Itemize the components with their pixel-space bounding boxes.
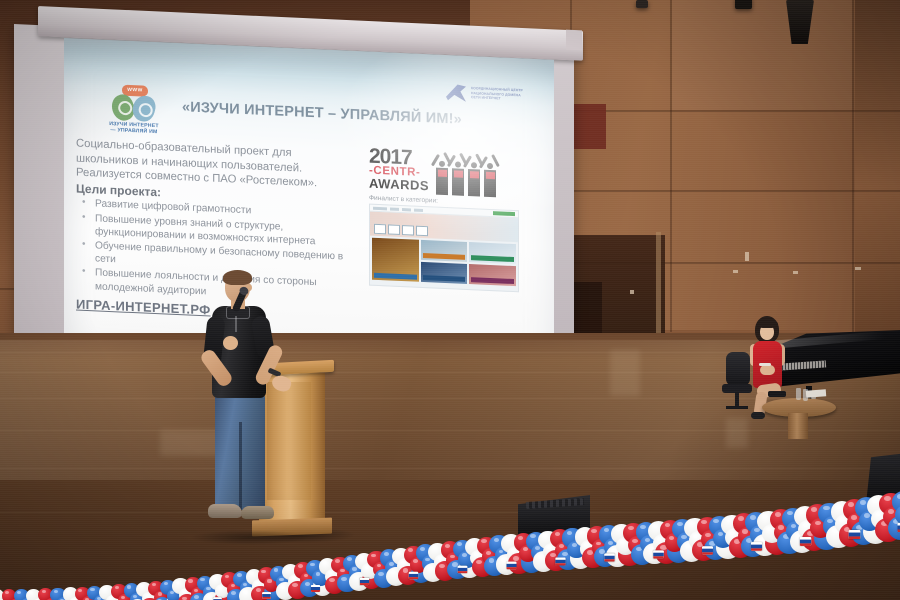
russian-flag-tag [605,554,615,562]
wall-outlet [793,271,798,274]
russian-flag-tag [507,561,517,569]
wall-outlet [855,267,861,270]
ceiling-speaker-icon [636,0,648,8]
russian-flag-tag [311,585,320,592]
cctld-arrow-icon [444,81,468,104]
photo-scene: www ИЗУЧИ ИНТЕРНЕТ — УПРАВЛЯЙ ИМ КООРДИН… [0,0,900,600]
panel-seam [852,0,854,332]
russian-flag-tag [702,546,713,555]
wall-tile [672,0,852,110]
wall-outlet [733,270,738,273]
thumbnail-card [421,262,468,284]
wall-outlet [630,290,634,294]
wall-far-right-section [855,0,900,340]
russian-flag-tag [849,530,861,539]
thumbnail-card [469,264,516,286]
website-screenshot-thumbnail [369,204,519,293]
floor-reflection-spot [610,350,640,396]
slide-link[interactable]: ИГРА-ИНТЕРНЕТ.РФ [76,297,211,318]
project-logo-text: ИЗУЧИ ИНТЕРНЕТ — УПРАВЛЯЙ ИМ [100,121,168,137]
screen-housing-end [566,30,582,51]
wall-switch [745,252,749,261]
floor-reflection-spot [726,418,748,448]
russian-flag-tag [360,578,369,585]
thumbnail-card [421,240,468,262]
russian-flag-tag [556,557,566,565]
project-logo-line2: — УПРАВЛЯЙ ИМ [100,127,168,136]
thumbnail-card-grid [370,236,518,289]
balloon-garland [0,455,900,600]
award-people-icon [433,148,499,197]
thumbnail-card [372,238,419,282]
russian-flag-tag [409,572,418,579]
presenter-hand-mic [223,336,238,350]
russian-flag-tag [458,566,468,574]
slide-title: «ИЗУЧИ ИНТЕРНЕТ – УПРАВЛЯЙ ИМ!» [182,99,472,128]
papers [806,389,826,397]
thumbnail-card [469,242,516,264]
russian-flag-tag [751,542,762,551]
door-frame [656,232,661,342]
russian-flag-tag [262,592,271,599]
table-black-object [768,391,786,397]
leaf-blue-icon [130,93,158,124]
round-side-table [762,398,836,440]
project-logo: www ИЗУЧИ ИНТЕРНЕТ — УПРАВЛЯЙ ИМ [100,84,168,139]
award-text-block: 2017 -CENTR- AWARDS [369,146,429,192]
water-bottle [796,388,801,400]
cctld-logo: КООРДИНАЦИОННЫЙ ЦЕНТР НАЦИОНАЛЬНОГО ДОМЕ… [444,79,540,109]
wristwatch [759,363,771,366]
presenter-hand-open [270,373,293,393]
slide-surface: www ИЗУЧИ ИНТЕРНЕТ — УПРАВЛЯЙ ИМ КООРДИН… [64,38,554,375]
award-name: AWARDS [369,176,429,192]
russian-flag-tag [653,550,664,558]
cctld-logo-text: КООРДИНАЦИОННЫЙ ЦЕНТР НАЦИОНАЛЬНОГО ДОМЕ… [471,86,523,102]
ceiling-speaker-icon [735,0,752,9]
russian-flag-tag [800,537,811,546]
